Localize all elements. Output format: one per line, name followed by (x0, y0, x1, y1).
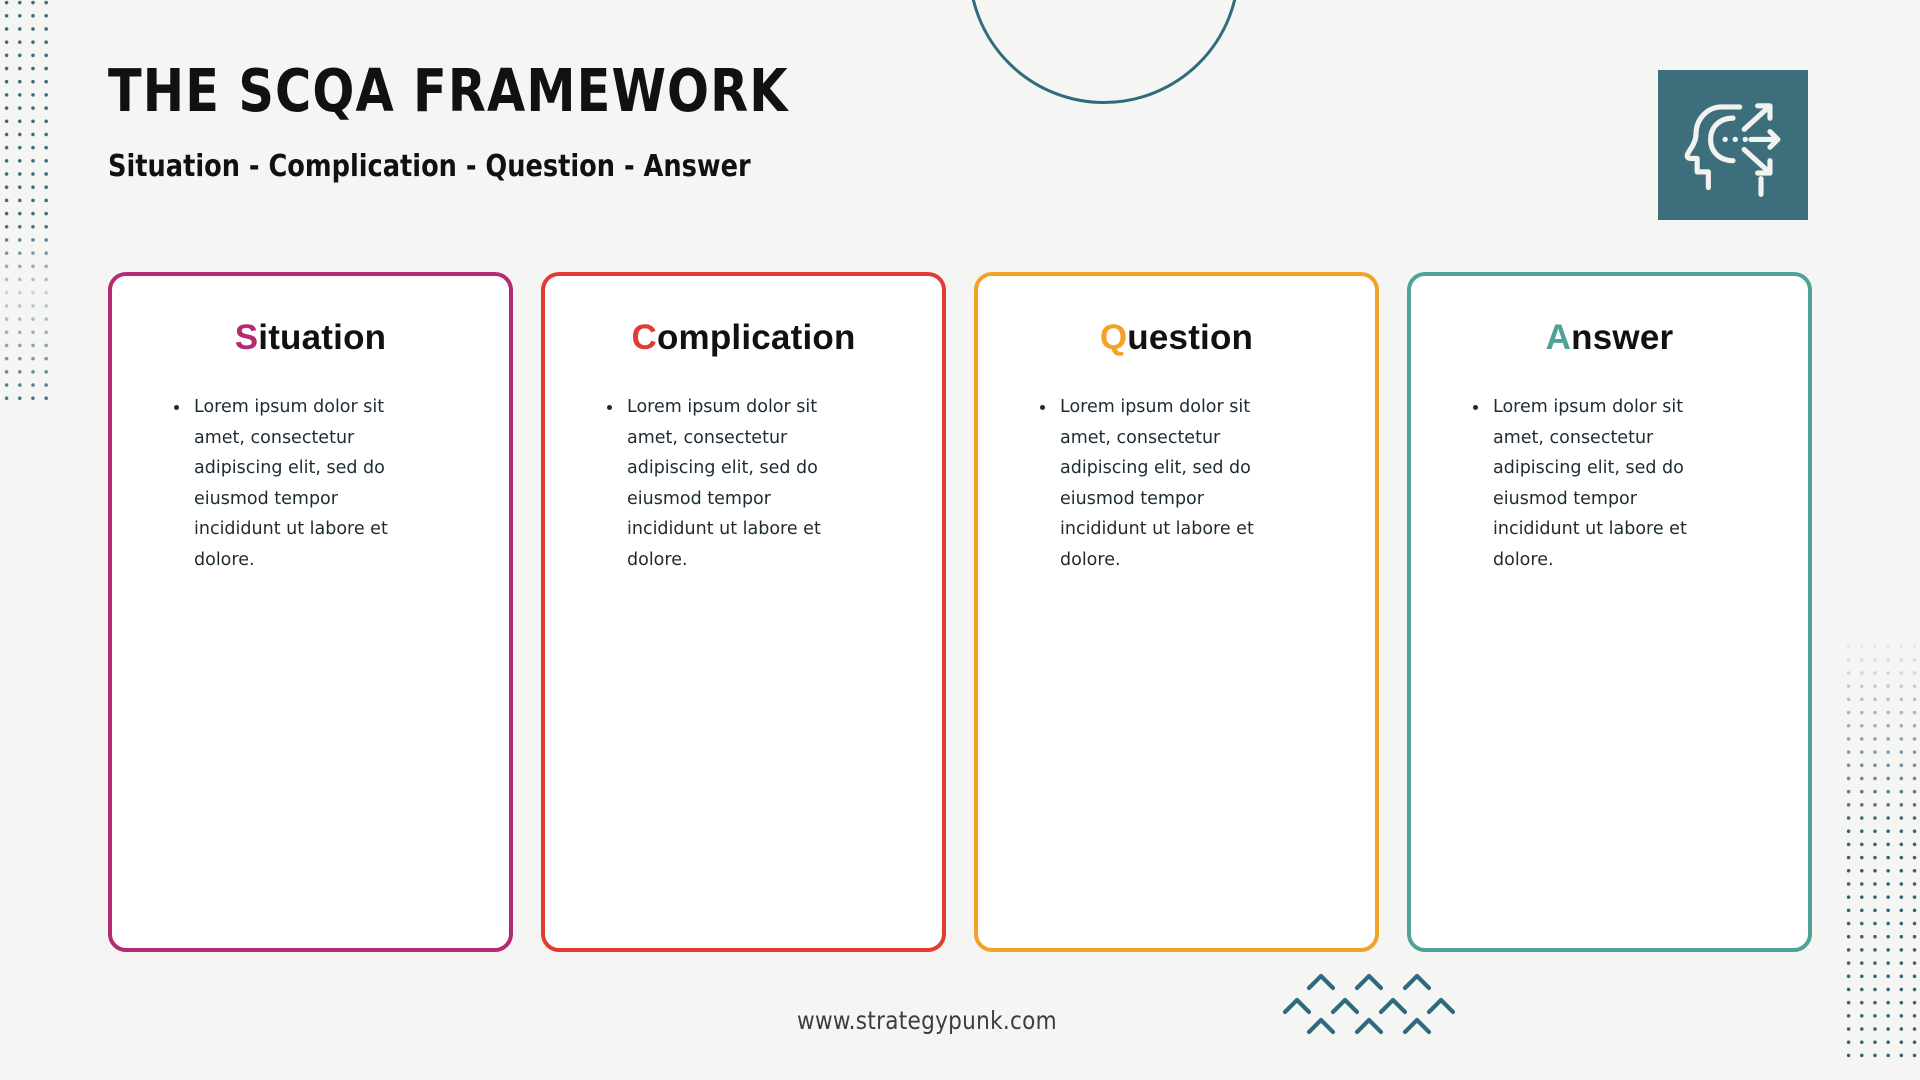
card-title-rest: nswer (1571, 318, 1673, 357)
bullet-list-question: Lorem ipsum dolor sit amet, consectetur … (1008, 392, 1345, 575)
dot-grid-left-decoration (0, 0, 50, 408)
list-item: Lorem ipsum dolor sit amet, consectetur … (1038, 392, 1296, 575)
header-block: THE SCQA FRAMEWORK Situation - Complicat… (108, 60, 840, 184)
card-answer[interactable]: Answer Lorem ipsum dolor sit amet, conse… (1407, 272, 1812, 952)
page-subtitle: Situation - Complication - Question - An… (108, 149, 803, 184)
scqa-card-row: Situation Lorem ipsum dolor sit amet, co… (108, 272, 1812, 952)
slide-canvas: THE SCQA FRAMEWORK Situation - Complicat… (0, 0, 1920, 1080)
card-title-answer: Answer (1546, 318, 1674, 358)
card-title-rest: omplication (657, 318, 856, 357)
bullet-list-answer: Lorem ipsum dolor sit amet, consectetur … (1441, 392, 1778, 575)
card-initial-letter: A (1546, 318, 1571, 357)
bullet-list-situation: Lorem ipsum dolor sit amet, consectetur … (142, 392, 479, 575)
card-initial-letter: S (235, 318, 259, 357)
bullet-list-complication: Lorem ipsum dolor sit amet, consectetur … (575, 392, 912, 575)
page-title: THE SCQA FRAMEWORK (108, 60, 789, 122)
dot-grid-right-decoration (1842, 640, 1920, 1060)
list-item: Lorem ipsum dolor sit amet, consectetur … (1471, 392, 1729, 575)
card-initial-letter: C (631, 318, 656, 357)
card-title-rest: ituation (258, 318, 386, 357)
card-title-complication: Complication (631, 318, 855, 358)
card-situation[interactable]: Situation Lorem ipsum dolor sit amet, co… (108, 272, 513, 952)
chevron-pattern-decoration (1283, 972, 1483, 1034)
footer-website-url[interactable]: www.strategypunk.com (797, 1006, 1057, 1035)
card-title-rest: uestion (1127, 318, 1253, 357)
card-initial-letter: Q (1100, 318, 1127, 357)
list-item: Lorem ipsum dolor sit amet, consectetur … (605, 392, 863, 575)
list-item: Lorem ipsum dolor sit amet, consectetur … (172, 392, 430, 575)
circle-outline-decoration (968, 0, 1240, 104)
strategic-thinking-head-icon (1658, 70, 1808, 220)
card-title-question: Question (1100, 318, 1253, 358)
card-question[interactable]: Question Lorem ipsum dolor sit amet, con… (974, 272, 1379, 952)
card-complication[interactable]: Complication Lorem ipsum dolor sit amet,… (541, 272, 946, 952)
card-title-situation: Situation (235, 318, 387, 358)
